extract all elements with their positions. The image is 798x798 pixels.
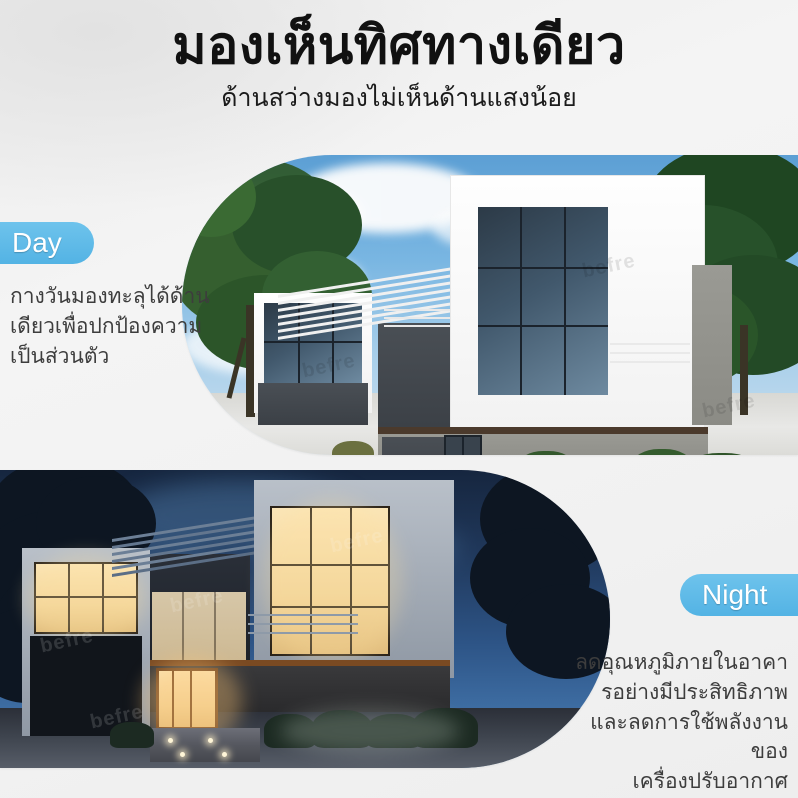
step-light bbox=[180, 752, 185, 757]
day-photo: befre befre befre bbox=[182, 155, 798, 455]
garden-glow bbox=[280, 708, 460, 754]
night-scene: befre befre befre befre bbox=[0, 470, 610, 768]
day-scene: befre befre befre bbox=[182, 155, 798, 455]
day-badge[interactable]: Day bbox=[0, 222, 94, 264]
night-badge-label: Night bbox=[702, 579, 767, 611]
header: มองเห็นทิศทางเดียว ด้านสว่างมองไม่เห็นด้… bbox=[0, 0, 798, 113]
night-balcony-rail bbox=[248, 614, 358, 634]
soffit-beam bbox=[378, 427, 708, 434]
window-glow bbox=[262, 498, 402, 666]
night-photo: befre befre befre befre bbox=[0, 470, 610, 768]
entry-door bbox=[444, 435, 482, 455]
step-light bbox=[208, 738, 213, 743]
page-subtitle: ด้านสว่างมองไม่เห็นด้านแสงน้อย bbox=[0, 83, 798, 113]
entry-recess bbox=[382, 437, 444, 455]
night-garage-door bbox=[30, 636, 142, 736]
step-light bbox=[222, 752, 227, 757]
step-light bbox=[168, 738, 173, 743]
stone-column-right bbox=[692, 265, 732, 425]
shrub bbox=[332, 441, 374, 455]
page-title: มองเห็นทิศทางเดียว bbox=[0, 16, 798, 77]
day-badge-label: Day bbox=[12, 227, 62, 259]
garage-door-left bbox=[258, 383, 368, 425]
night-badge[interactable]: Night bbox=[680, 574, 798, 616]
shrub-night bbox=[110, 722, 154, 748]
night-caption: ลดอุณหภูมิภายในอาคา รอย่างมีประสิทธิภาพ … bbox=[573, 648, 788, 797]
day-caption: กางวันมองทะลุได้ด้าน เดียวเพื่อปกป้องควา… bbox=[10, 282, 210, 371]
balcony-rail-tower bbox=[610, 343, 690, 363]
window-tower-large bbox=[478, 207, 608, 395]
entry-steps bbox=[150, 728, 260, 762]
promo-page: มองเห็นทิศทางเดียว ด้านสว่างมองไม่เห็นด้… bbox=[0, 0, 798, 798]
